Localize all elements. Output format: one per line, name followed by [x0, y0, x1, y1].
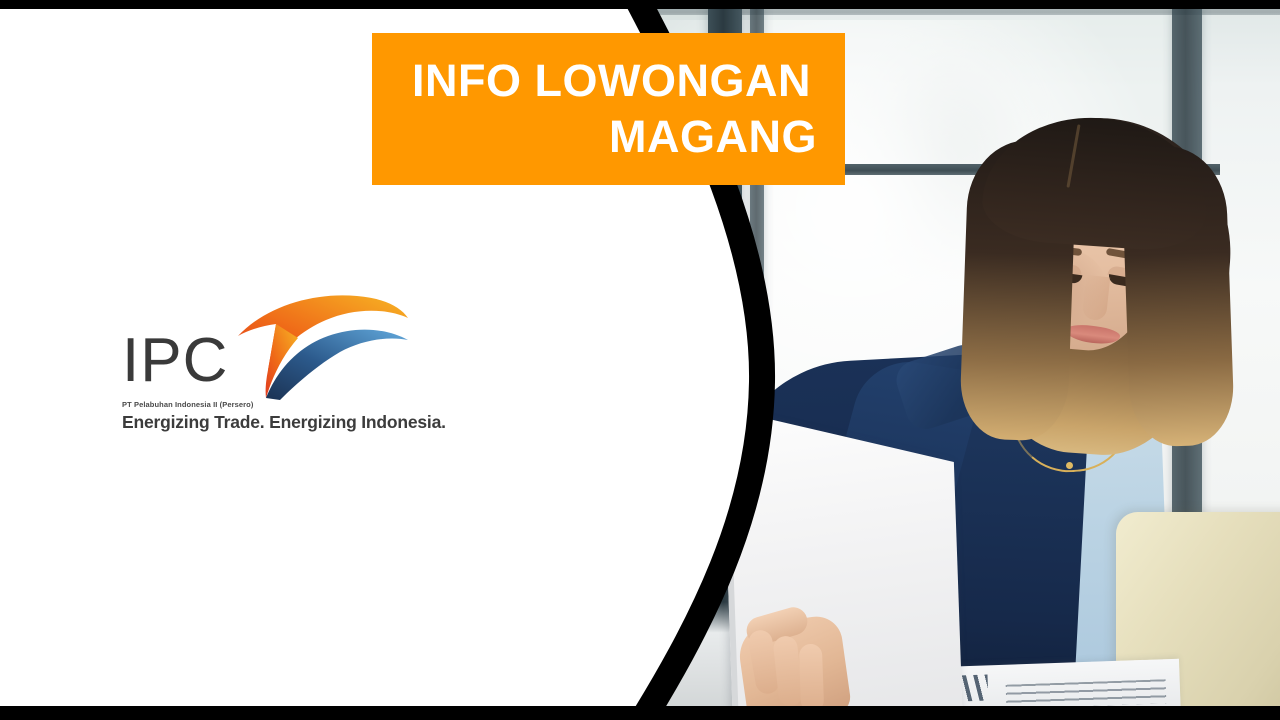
- finger: [799, 644, 824, 713]
- headline-line-2: MAGANG: [412, 109, 817, 165]
- headline-line-1: INFO LOWONGAN: [412, 53, 817, 109]
- hair-top: [980, 110, 1212, 253]
- headline-banner: INFO LOWONGAN MAGANG: [372, 33, 845, 185]
- bottom-edge-bar: [0, 706, 1280, 720]
- top-edge-bar: [0, 0, 1280, 9]
- poster-canvas: INFO LOWONGAN MAGANG IPC: [0, 0, 1280, 720]
- ipc-wordmark: IPC: [122, 330, 228, 392]
- necklace-pendant: [1066, 462, 1073, 469]
- ipc-tagline: Energizing Trade. Energizing Indonesia.: [122, 412, 446, 433]
- ipc-logo: IPC PT Pelabuhan Indonesia: [116, 292, 416, 440]
- ipc-subtitle: PT Pelabuhan Indonesia II (Persero): [122, 400, 253, 409]
- ipc-swoosh-icon: [236, 292, 411, 400]
